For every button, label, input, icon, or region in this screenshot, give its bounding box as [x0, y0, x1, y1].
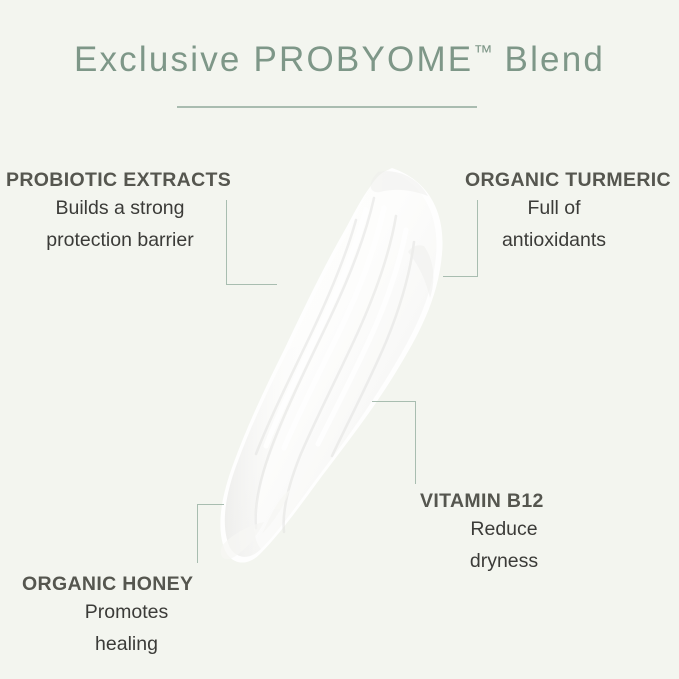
callout-body-line-2: protection barrier	[14, 224, 226, 256]
ingredient-infographic: Exclusive PROBYOME™ Blend	[0, 0, 679, 679]
page-title-suffix: Blend	[493, 40, 605, 79]
page-title: Exclusive PROBYOME™ Blend	[0, 40, 679, 80]
callout-organic-honey: ORGANIC HONEY Promotes healing	[22, 572, 227, 660]
leader-line-vitamin-b12	[372, 401, 416, 484]
callout-body-probiotic-extracts: Builds a strong protection barrier	[14, 192, 226, 256]
callout-vitamin-b12: VITAMIN B12 Reduce dryness	[420, 489, 582, 577]
callout-body-organic-turmeric: Full of antioxidants	[437, 192, 671, 256]
callout-body-line-1: Promotes	[26, 596, 227, 628]
callout-body-organic-honey: Promotes healing	[26, 596, 227, 660]
callout-body-line-1: Full of	[437, 192, 671, 224]
title-divider	[177, 106, 477, 108]
callout-organic-turmeric: ORGANIC TURMERIC Full of antioxidants	[437, 168, 671, 256]
callout-heading-vitamin-b12: VITAMIN B12	[420, 489, 582, 513]
page-title-prefix: Exclusive PROBYOME	[74, 40, 473, 79]
callout-body-vitamin-b12: Reduce dryness	[426, 513, 582, 577]
callout-probiotic-extracts: PROBIOTIC EXTRACTS Builds a strong prote…	[6, 168, 231, 256]
callout-body-line-2: antioxidants	[437, 224, 671, 256]
callout-body-line-2: healing	[26, 628, 227, 660]
callout-heading-probiotic-extracts: PROBIOTIC EXTRACTS	[6, 168, 231, 192]
callout-body-line-1: Builds a strong	[14, 192, 226, 224]
callout-body-line-2: dryness	[426, 545, 582, 577]
callout-body-line-1: Reduce	[426, 513, 582, 545]
leader-line-organic-honey	[197, 504, 224, 563]
trademark-symbol: ™	[473, 42, 492, 63]
leader-line-probiotic-extracts	[226, 200, 277, 285]
callout-heading-organic-honey: ORGANIC HONEY	[22, 572, 227, 596]
callout-heading-organic-turmeric: ORGANIC TURMERIC	[437, 168, 671, 192]
